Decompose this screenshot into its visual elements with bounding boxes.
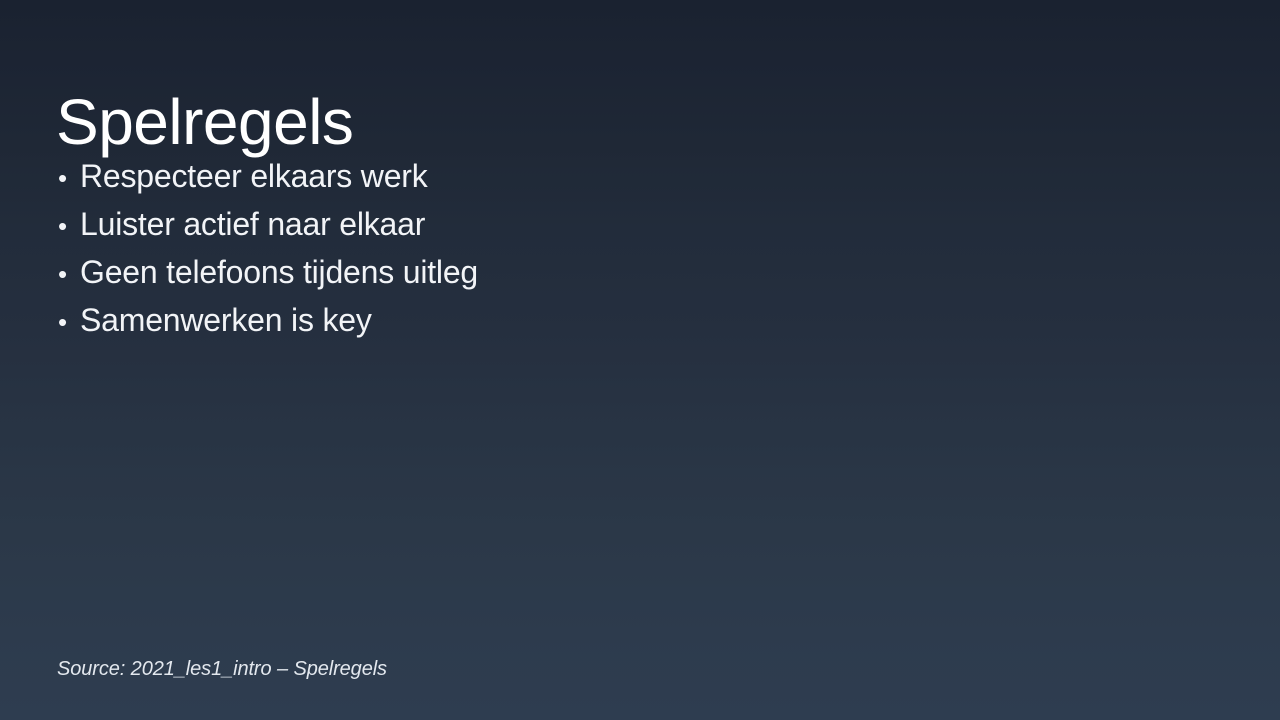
list-item-label: Respecteer elkaars werk	[80, 152, 428, 200]
list-item: • Luister actief naar elkaar	[58, 200, 478, 248]
presentation-slide: Spelregels • Respecteer elkaars werk • L…	[0, 0, 1280, 720]
list-item-label: Geen telefoons tijdens uitleg	[80, 248, 478, 296]
page-title: Spelregels	[56, 90, 353, 154]
rules-bullet-list: • Respecteer elkaars werk • Luister acti…	[58, 152, 478, 344]
source-caption: Source: 2021_les1_intro – Spelregels	[57, 654, 387, 684]
bullet-point-icon: •	[58, 298, 80, 346]
list-item: • Geen telefoons tijdens uitleg	[58, 248, 478, 296]
list-item-label: Samenwerken is key	[80, 296, 372, 344]
bullet-point-icon: •	[58, 250, 80, 298]
list-item: • Respecteer elkaars werk	[58, 152, 478, 200]
list-item: • Samenwerken is key	[58, 296, 478, 344]
bullet-point-icon: •	[58, 154, 80, 202]
bullet-point-icon: •	[58, 202, 80, 250]
list-item-label: Luister actief naar elkaar	[80, 200, 425, 248]
